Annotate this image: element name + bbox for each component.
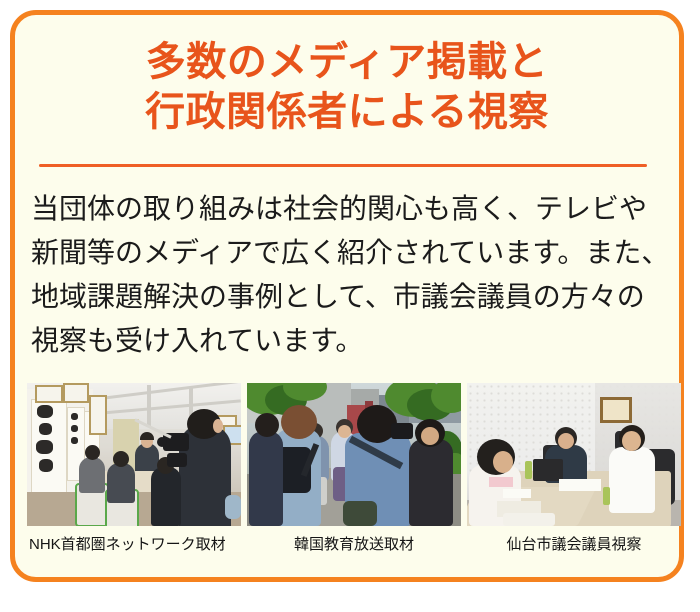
photo-cell-1: NHK首都圏ネットワーク取材 [27, 383, 241, 554]
photo-gallery: NHK首都圏ネットワーク取材 [27, 383, 681, 554]
media-coverage-card: 多数のメディア掲載と 行政関係者による視察 当団体の取り組みは社会的関心も高く、… [10, 10, 684, 582]
body-line-2: 新聞等のメディアで広く紹介されています。また、 [31, 231, 675, 275]
photo-caption-2: 韓国教育放送取材 [247, 536, 461, 554]
body-line-3: 地域課題解決の事例として、市議会議員の方々の [31, 275, 675, 319]
card-title: 多数のメディア掲載と 行政関係者による視察 [15, 37, 679, 137]
photo-caption-3: 仙台市議会議員視察 [467, 536, 681, 554]
photo-nhk-interview [27, 383, 241, 526]
photo-sendai-council-visit [467, 383, 681, 526]
photo-korea-broadcast [247, 383, 461, 526]
photo-cell-3: 仙台市議会議員視察 [467, 383, 681, 554]
title-line-1: 多数のメディア掲載と [15, 37, 679, 87]
body-line-1: 当団体の取り組みは社会的関心も高く、テレビや [31, 187, 675, 231]
photo-caption-1: NHK首都圏ネットワーク取材 [27, 536, 241, 554]
body-line-4: 視察も受け入れています。 [31, 319, 675, 363]
card-body-text: 当団体の取り組みは社会的関心も高く、テレビや 新聞等のメディアで広く紹介されてい… [31, 187, 675, 363]
title-line-2: 行政関係者による視察 [15, 87, 679, 137]
photo-cell-2: 韓国教育放送取材 [247, 383, 461, 554]
title-divider [39, 164, 647, 167]
